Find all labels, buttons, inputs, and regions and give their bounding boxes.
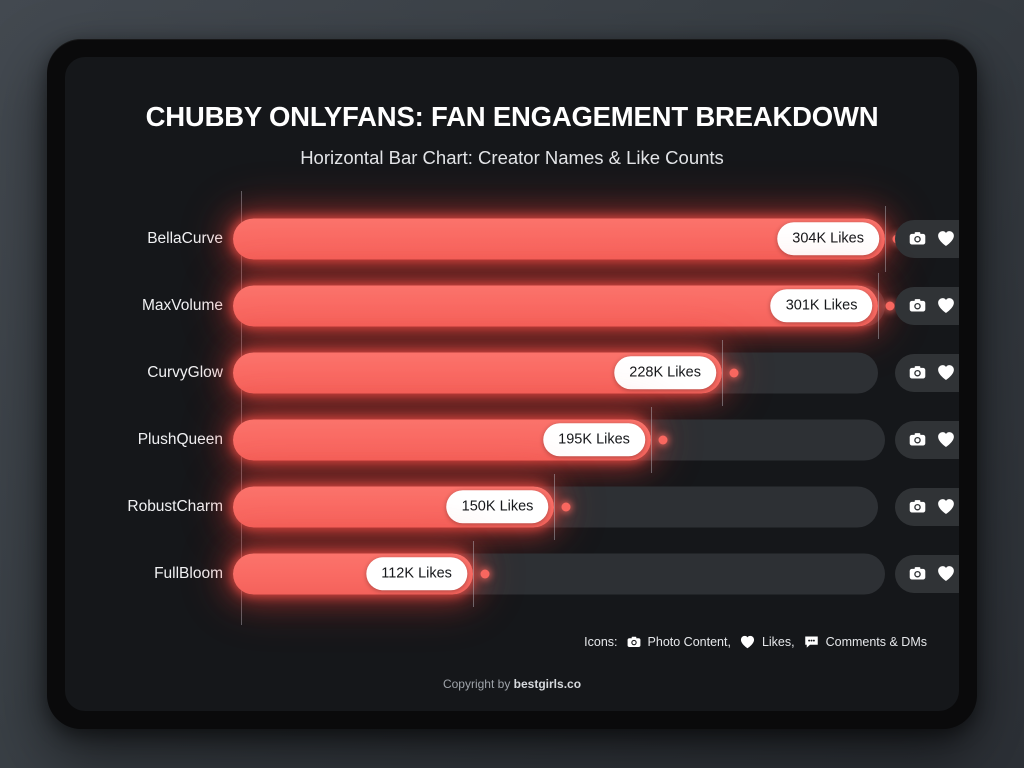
- bar-end-dot: [562, 502, 571, 511]
- row-icon-pill[interactable]: [895, 421, 959, 459]
- bar-zone: 228K Likes: [233, 339, 959, 406]
- bar-value-pill: 301K Likes: [771, 289, 873, 323]
- table-row[interactable]: BellaCurve304K Likes: [65, 205, 959, 272]
- bar-zone: 112K Likes: [233, 540, 959, 607]
- bar-value-pill: 150K Likes: [447, 490, 549, 524]
- legend-likes-label: Likes,: [762, 635, 795, 649]
- bar-row-label: CurvyGlow: [65, 364, 233, 382]
- heart-icon: [740, 635, 755, 649]
- table-row[interactable]: CurvyGlow228K Likes: [65, 339, 959, 406]
- bar-end-dot: [658, 435, 667, 444]
- table-row[interactable]: PlushQueen195K Likes: [65, 406, 959, 473]
- heart-icon[interactable]: [937, 297, 955, 314]
- row-icon-pill[interactable]: [895, 354, 959, 392]
- chart-title: CHUBBY ONLYFANS: FAN ENGAGEMENT BREAKDOW…: [65, 101, 959, 133]
- camera-icon[interactable]: [909, 297, 926, 314]
- bar-row-label: MaxVolume: [65, 297, 233, 315]
- bar-value-pill: 195K Likes: [543, 423, 645, 457]
- bar-end-tick: [885, 206, 886, 272]
- bar-value-pill: 228K Likes: [614, 356, 716, 390]
- heart-icon[interactable]: [937, 565, 955, 582]
- footer-copyright: Copyright by bestgirls.co: [65, 677, 959, 691]
- bar-end-tick: [651, 407, 652, 473]
- chart-plot-area: BellaCurve304K LikesMaxVolume301K LikesC…: [65, 191, 959, 621]
- table-row[interactable]: FullBloom112K Likes: [65, 540, 959, 607]
- bar-value-pill: 304K Likes: [777, 222, 879, 256]
- camera-icon: [627, 635, 641, 649]
- legend-photo-label: Photo Content,: [648, 635, 731, 649]
- bar-rows: BellaCurve304K LikesMaxVolume301K LikesC…: [65, 205, 959, 607]
- footer-brand: bestgirls.co: [514, 677, 581, 691]
- bar-row-label: BellaCurve: [65, 230, 233, 248]
- heart-icon[interactable]: [937, 364, 955, 381]
- table-row[interactable]: MaxVolume301K Likes: [65, 272, 959, 339]
- bar-row-label: PlushQueen: [65, 431, 233, 449]
- bar-row-label: RobustCharm: [65, 498, 233, 516]
- chart-legend: Icons: Photo Content, Likes,: [584, 635, 927, 649]
- bar-zone: 304K Likes: [233, 205, 959, 272]
- row-icon-pill[interactable]: [895, 220, 959, 258]
- footer-prefix: Copyright by: [443, 677, 510, 691]
- legend-prefix: Icons:: [584, 635, 617, 649]
- heart-icon[interactable]: [937, 431, 955, 448]
- bar-end-dot: [730, 368, 739, 377]
- chart-screen: CHUBBY ONLYFANS: FAN ENGAGEMENT BREAKDOW…: [65, 57, 959, 711]
- bar-end-dot: [480, 569, 489, 578]
- chart-subtitle: Horizontal Bar Chart: Creator Names & Li…: [65, 147, 959, 169]
- chart-header: CHUBBY ONLYFANS: FAN ENGAGEMENT BREAKDOW…: [65, 57, 959, 169]
- bar-end-tick: [473, 541, 474, 607]
- bar-end-dot: [886, 301, 895, 310]
- heart-icon[interactable]: [937, 498, 955, 515]
- comment-bubble-icon: [804, 635, 819, 649]
- bar-zone: 301K Likes: [233, 272, 959, 339]
- table-row[interactable]: RobustCharm150K Likes: [65, 473, 959, 540]
- bar-value-pill: 112K Likes: [366, 557, 467, 591]
- bar-zone: 195K Likes: [233, 406, 959, 473]
- bar-row-label: FullBloom: [65, 565, 233, 583]
- row-icon-pill[interactable]: [895, 287, 959, 325]
- bar-end-tick: [722, 340, 723, 406]
- camera-icon[interactable]: [909, 498, 926, 515]
- camera-icon[interactable]: [909, 431, 926, 448]
- row-icon-pill[interactable]: [895, 555, 959, 593]
- camera-icon[interactable]: [909, 230, 926, 247]
- bar-zone: 150K Likes: [233, 473, 959, 540]
- bar-end-tick: [554, 474, 555, 540]
- camera-icon[interactable]: [909, 565, 926, 582]
- heart-icon[interactable]: [937, 230, 955, 247]
- bar-end-tick: [878, 273, 879, 339]
- legend-comments-label: Comments & DMs: [826, 635, 927, 649]
- camera-icon[interactable]: [909, 364, 926, 381]
- row-icon-pill[interactable]: [895, 488, 959, 526]
- tablet-device-frame: CHUBBY ONLYFANS: FAN ENGAGEMENT BREAKDOW…: [47, 39, 977, 729]
